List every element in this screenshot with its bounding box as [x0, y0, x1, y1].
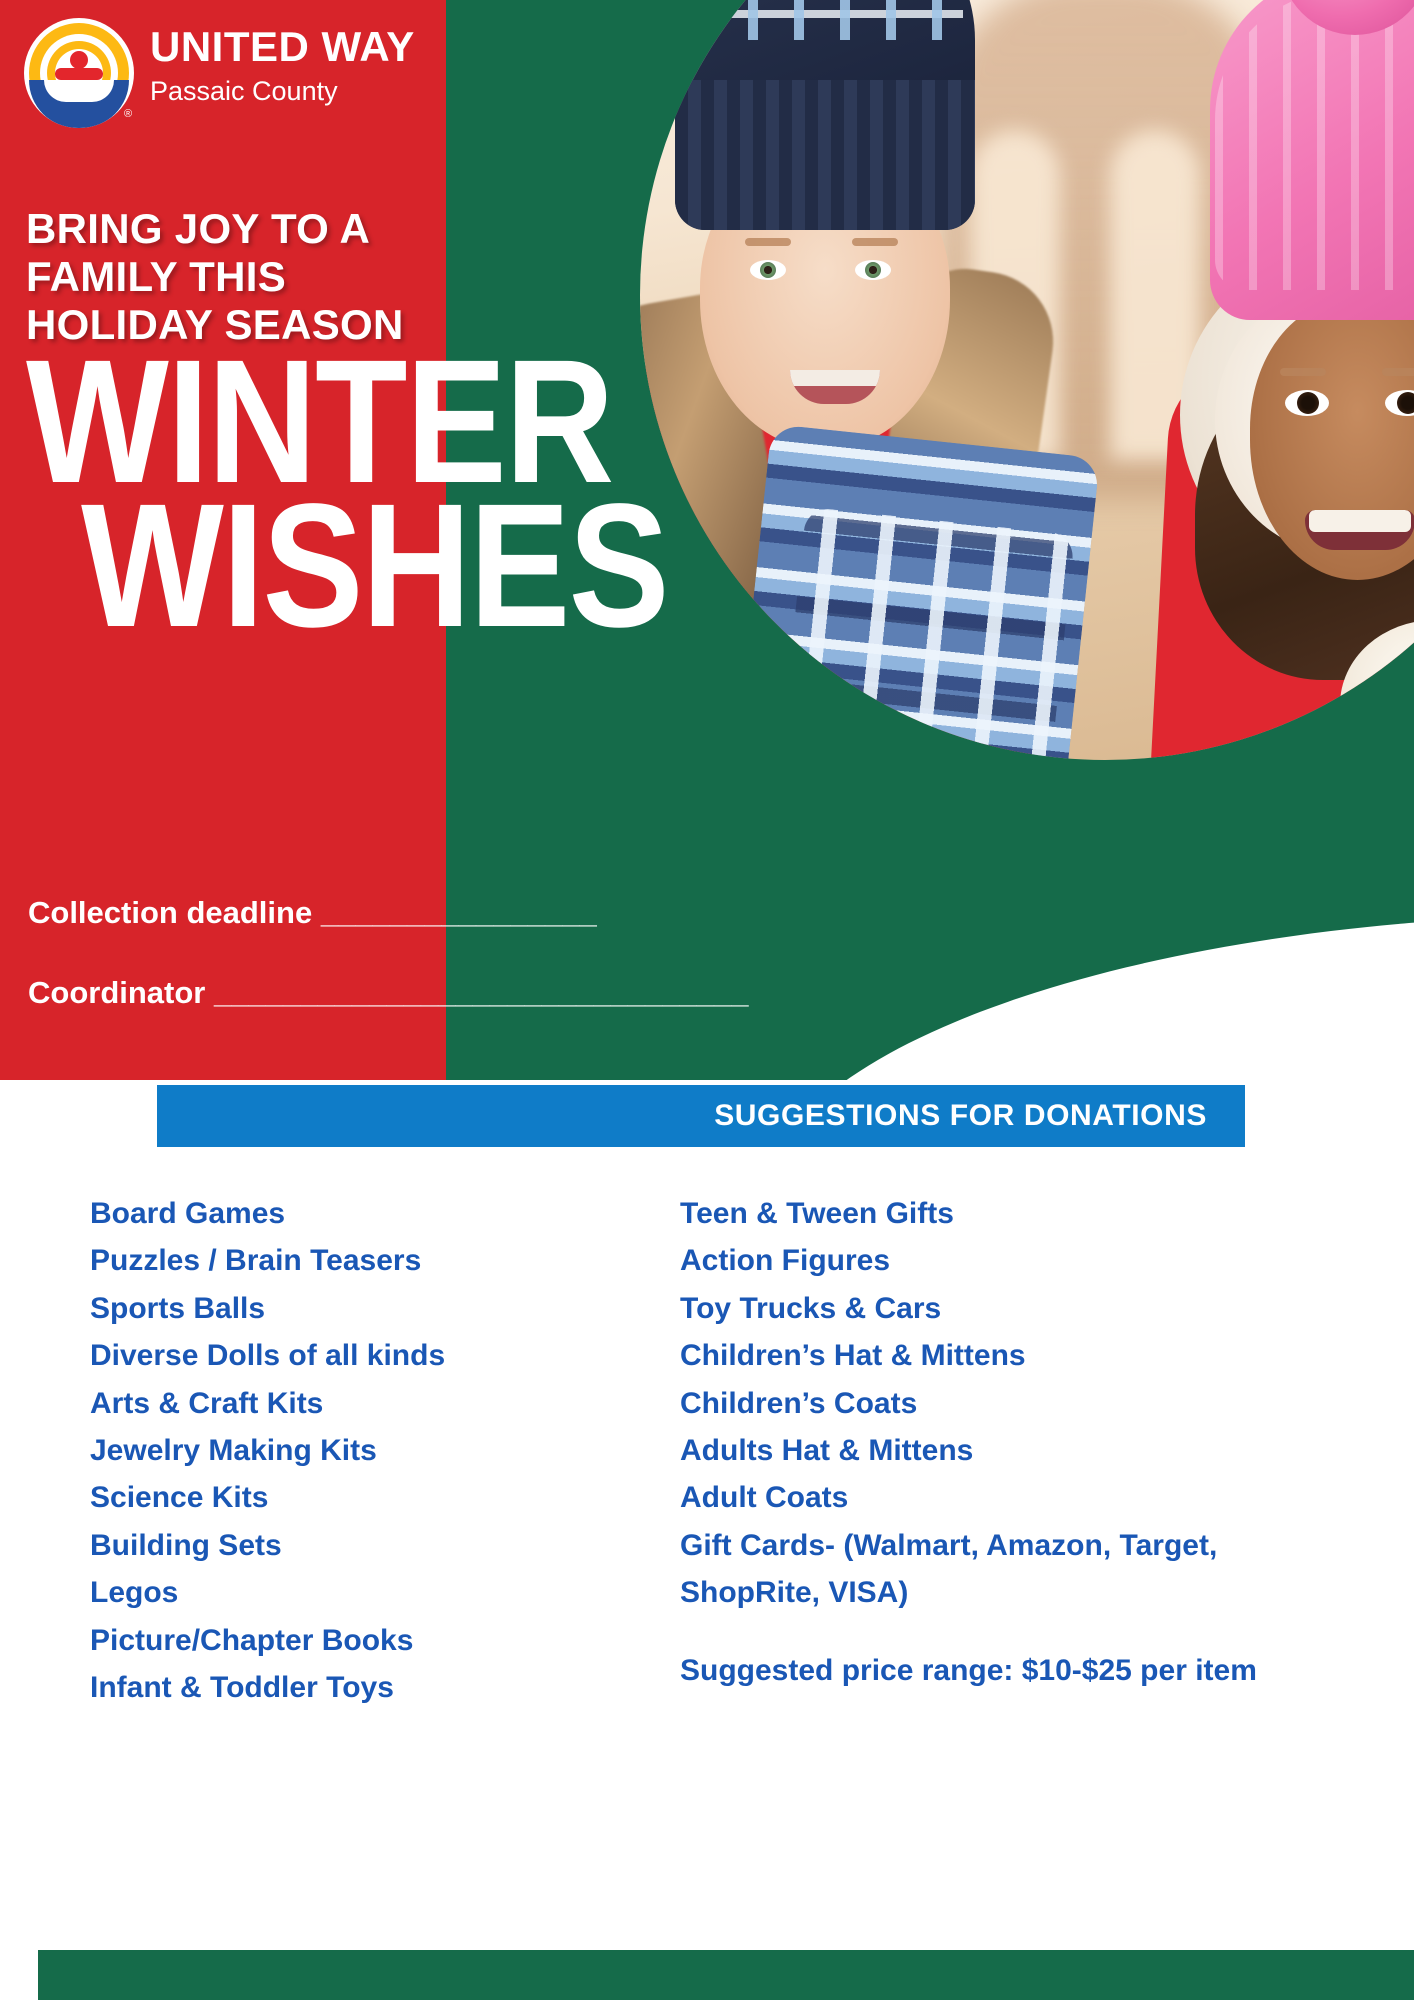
flyer-page: ® UNITED WAY Passaic County BRING JOY TO… — [0, 0, 1414, 2000]
price-range-note: Suggested price range: $10-$25 per item — [680, 1647, 1340, 1694]
donation-item: Infant & Toddler Toys — [90, 1664, 630, 1711]
logo-org-name: UNITED WAY — [150, 26, 415, 68]
donation-item: Children’s Coats — [680, 1380, 1340, 1427]
coordinator-label: Coordinator — [28, 975, 205, 1010]
boy-hat-ribbed-band — [675, 80, 975, 230]
donation-item: Legos — [90, 1569, 630, 1616]
donation-item: Adults Hat & Mittens — [680, 1427, 1340, 1474]
donation-item: Action Figures — [680, 1237, 1340, 1284]
donation-item: Diverse Dolls of all kinds — [90, 1332, 630, 1379]
logo-chapter-name: Passaic County — [150, 78, 338, 105]
boy-eye-right — [855, 260, 891, 280]
list-spacer — [680, 1617, 1340, 1647]
donation-item: Children’s Hat & Mittens — [680, 1332, 1340, 1379]
donation-item: Adult Coats — [680, 1474, 1340, 1521]
united-way-logo: ® UNITED WAY Passaic County — [24, 12, 424, 132]
footer-bar — [38, 1950, 1414, 2000]
donation-item: Sports Balls — [90, 1285, 630, 1332]
donation-item: Arts & Craft Kits — [90, 1380, 630, 1427]
girl-smile — [1305, 510, 1414, 550]
girl-brow-left — [1280, 368, 1326, 376]
registered-trademark-mark: ® — [124, 108, 132, 120]
boy-scarf-pattern — [775, 507, 1075, 760]
wordmark-line-wishes: WISHES — [26, 494, 576, 638]
coordinator-rule: _______________________________ — [214, 975, 748, 1010]
collection-deadline-label: Collection deadline — [28, 895, 312, 930]
girl-hat-cable-knit — [1215, 0, 1414, 290]
boy-brow-left — [745, 238, 791, 246]
suggestions-banner-title: SUGGESTIONS FOR DONATIONS — [714, 1099, 1207, 1133]
winter-children-photo — [640, 0, 1414, 760]
collection-deadline-rule: ________________ — [321, 895, 597, 930]
donation-item: Building Sets — [90, 1522, 630, 1569]
boy-eye-left — [750, 260, 786, 280]
collection-deadline-field[interactable]: Collection deadline ________________ — [28, 895, 597, 931]
donation-item: Jewelry Making Kits — [90, 1427, 630, 1474]
donation-item: Science Kits — [90, 1474, 630, 1521]
donation-item: Puzzles / Brain Teasers — [90, 1237, 630, 1284]
donation-item: Picture/Chapter Books — [90, 1617, 630, 1664]
girl-eye-left — [1285, 390, 1329, 416]
coordinator-field[interactable]: Coordinator ____________________________… — [28, 975, 748, 1011]
donation-list-left: Board GamesPuzzles / Brain TeasersSports… — [90, 1190, 630, 1711]
girl-brow-right — [1382, 368, 1414, 376]
campaign-wordmark: WINTER WISHES — [26, 350, 576, 639]
donation-item: Toy Trucks & Cars — [680, 1285, 1340, 1332]
boy-hat-nordic-pattern — [688, 0, 963, 40]
donation-item: Teen & Tween Gifts — [680, 1190, 1340, 1237]
united-way-logo-mark-icon — [24, 18, 134, 128]
boy-brow-right — [852, 238, 898, 246]
suggestions-banner: SUGGESTIONS FOR DONATIONS — [157, 1085, 1245, 1147]
donation-list-right: Teen & Tween GiftsAction FiguresToy Truc… — [680, 1190, 1340, 1694]
donation-item: Gift Cards- (Walmart, Amazon, Target, Sh… — [680, 1522, 1340, 1617]
donation-item: Board Games — [90, 1190, 630, 1237]
